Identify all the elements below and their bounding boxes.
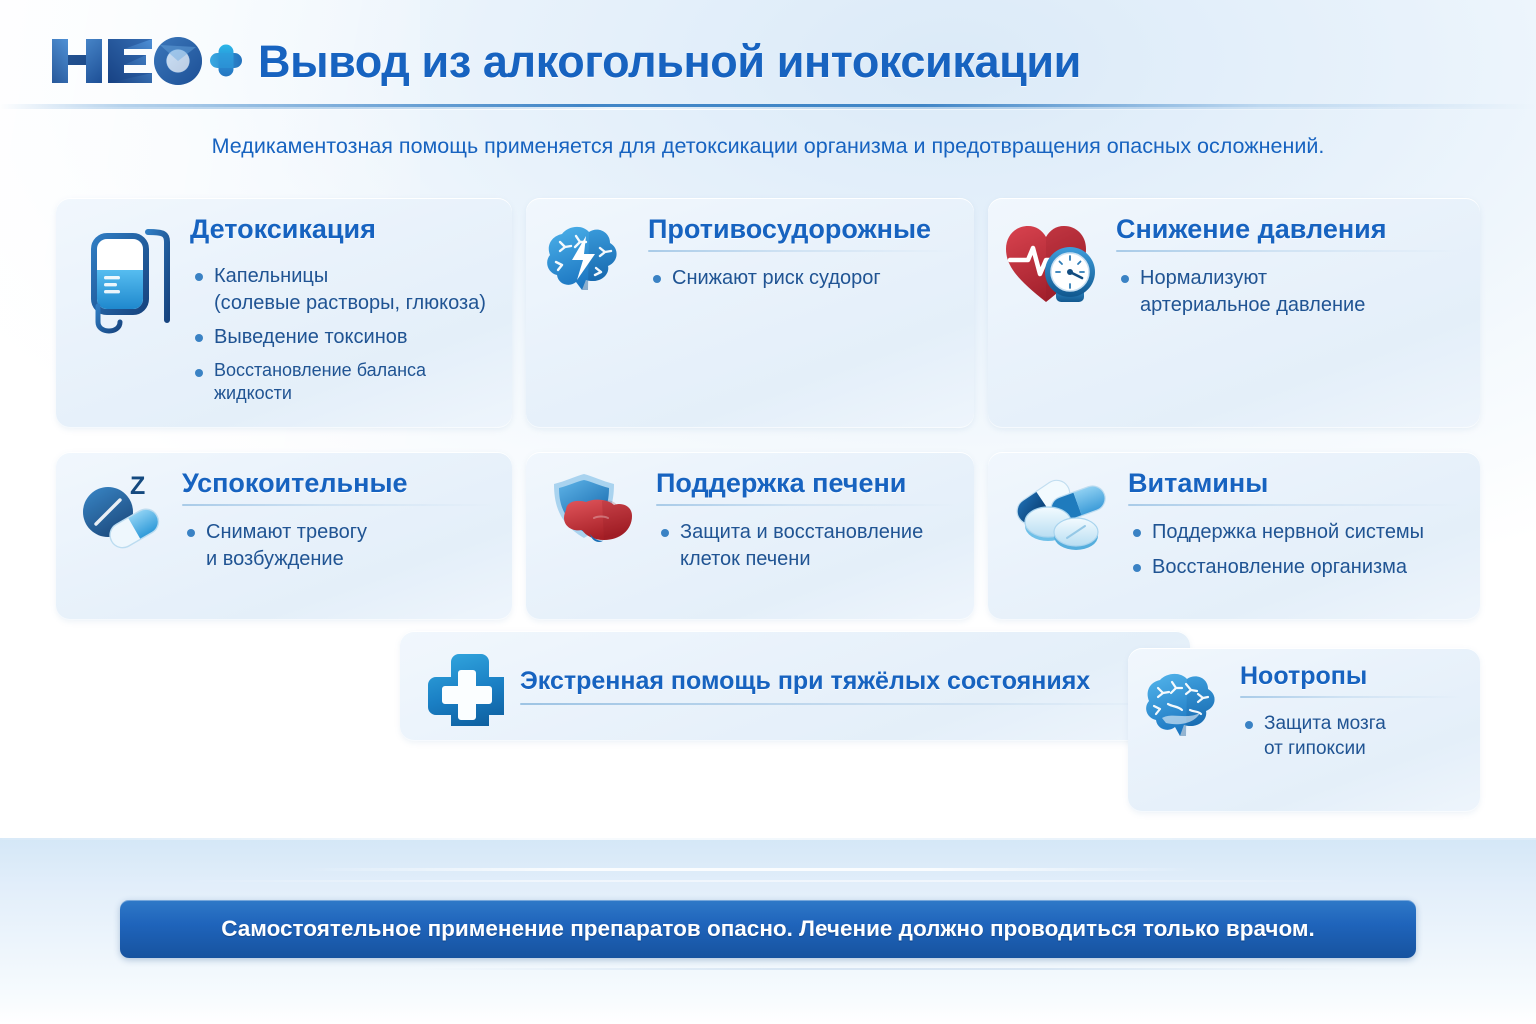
card-title: Противосудорожные — [648, 214, 956, 244]
iv-drip-icon — [72, 214, 176, 414]
title-divider — [182, 504, 494, 506]
bullet-subtext: и возбуждение — [206, 546, 494, 572]
neo-plus-logo — [48, 30, 244, 90]
list-item: Восстановление организма — [1128, 554, 1462, 580]
pills-capsules-icon — [1004, 468, 1114, 606]
list-item: Поддержка нервной системы — [1128, 519, 1462, 545]
svg-text:Z: Z — [130, 472, 145, 500]
list-item: Восстановление баланса жидкости — [190, 359, 494, 407]
heart-pressure-gauge-icon — [1004, 214, 1102, 414]
liver-shield-icon — [542, 468, 642, 606]
list-item: Капельницы (солевые растворы, глюкоза) — [190, 263, 494, 316]
background-streak — [420, 968, 1360, 970]
list-item: Выведение токсинов — [190, 324, 494, 350]
title-divider — [1116, 250, 1462, 252]
brain-lightning-icon — [542, 214, 634, 414]
card-detox[interactable]: Детоксикация Капельницы (солевые раствор… — [56, 198, 512, 428]
card-title: Ноотропы — [1240, 662, 1464, 690]
list-item: Нормализуют артериальное давление — [1116, 265, 1462, 318]
list-item: Защита мозга от гипоксии — [1240, 711, 1464, 761]
card-nootropics[interactable]: Ноотропы Защита мозга от гипоксии — [1128, 648, 1480, 812]
page-subtitle: Медикаментозная помощь применяется для д… — [0, 134, 1536, 159]
bullet-list: Нормализуют артериальное давление — [1116, 265, 1462, 326]
list-item: Снимают тревогу и возбуждение — [182, 519, 494, 572]
bullet-text: Защита мозга — [1264, 713, 1386, 734]
bullet-text: Нормализуют — [1140, 267, 1267, 289]
title-divider — [656, 504, 956, 506]
header-divider — [0, 104, 1536, 109]
medical-cross-icon — [428, 646, 504, 726]
bullet-list: Снимают тревогу и возбуждение — [182, 519, 494, 580]
card-emergency-help[interactable]: Экстренная помощь при тяжёлых состояниях — [400, 631, 1190, 741]
brain-icon — [1142, 662, 1226, 800]
list-item: Защита и восстановление клеток печени — [656, 519, 956, 572]
background-streak — [300, 868, 1200, 871]
bullet-text: Капельницы — [214, 265, 328, 287]
page-header: Вывод из алкогольной интоксикации — [0, 0, 1536, 112]
bullet-subtext: артериальное давление — [1140, 292, 1462, 318]
list-item: Снижают риск судорог — [648, 265, 956, 291]
warning-banner: Самостоятельное применение препаратов оп… — [120, 900, 1416, 958]
card-vitamins[interactable]: Витамины Поддержка нервной системы Восст… — [988, 452, 1480, 620]
sleeping-pill-icon: Z — [72, 468, 168, 606]
card-title: Экстренная помощь при тяжёлых состояниях — [520, 667, 1170, 695]
title-divider — [648, 250, 956, 252]
warning-text: Самостоятельное применение препаратов оп… — [221, 916, 1315, 942]
card-title: Детоксикация — [190, 214, 494, 244]
bullet-text: Снимают тревогу — [206, 521, 367, 543]
card-title: Снижение давления — [1116, 214, 1462, 244]
card-anticonvulsant[interactable]: Противосудорожные Снижают риск судорог — [526, 198, 974, 428]
bullet-list: Поддержка нервной системы Восстановление… — [1128, 519, 1462, 588]
bullet-subtext: (солевые растворы, глюкоза) — [214, 290, 494, 316]
page-title: Вывод из алкогольной интоксикации — [258, 36, 1081, 88]
card-liver[interactable]: Поддержка печени Защита и восстановление… — [526, 452, 974, 620]
title-divider — [1128, 504, 1462, 506]
bullet-subtext: клеток печени — [680, 546, 956, 572]
card-title: Поддержка печени — [656, 468, 956, 498]
bullet-list: Капельницы (солевые растворы, глюкоза) В… — [190, 263, 494, 414]
bullet-list: Защита мозга от гипоксии — [1240, 711, 1464, 769]
card-sedative[interactable]: Z Успокоительные Снимают тревогу и возбу… — [56, 452, 512, 620]
card-title: Витамины — [1128, 468, 1462, 498]
background-streak — [180, 880, 1360, 882]
bullet-text: Защита и восстановление — [680, 521, 923, 543]
title-divider — [520, 703, 1170, 705]
card-title: Успокоительные — [182, 468, 494, 498]
bullet-subtext: от гипоксии — [1264, 736, 1464, 761]
card-pressure[interactable]: Снижение давления Нормализуют артериальн… — [988, 198, 1480, 428]
title-divider — [1240, 696, 1464, 698]
bullet-list: Снижают риск судорог — [648, 265, 956, 299]
bullet-list: Защита и восстановление клеток печени — [656, 519, 956, 580]
